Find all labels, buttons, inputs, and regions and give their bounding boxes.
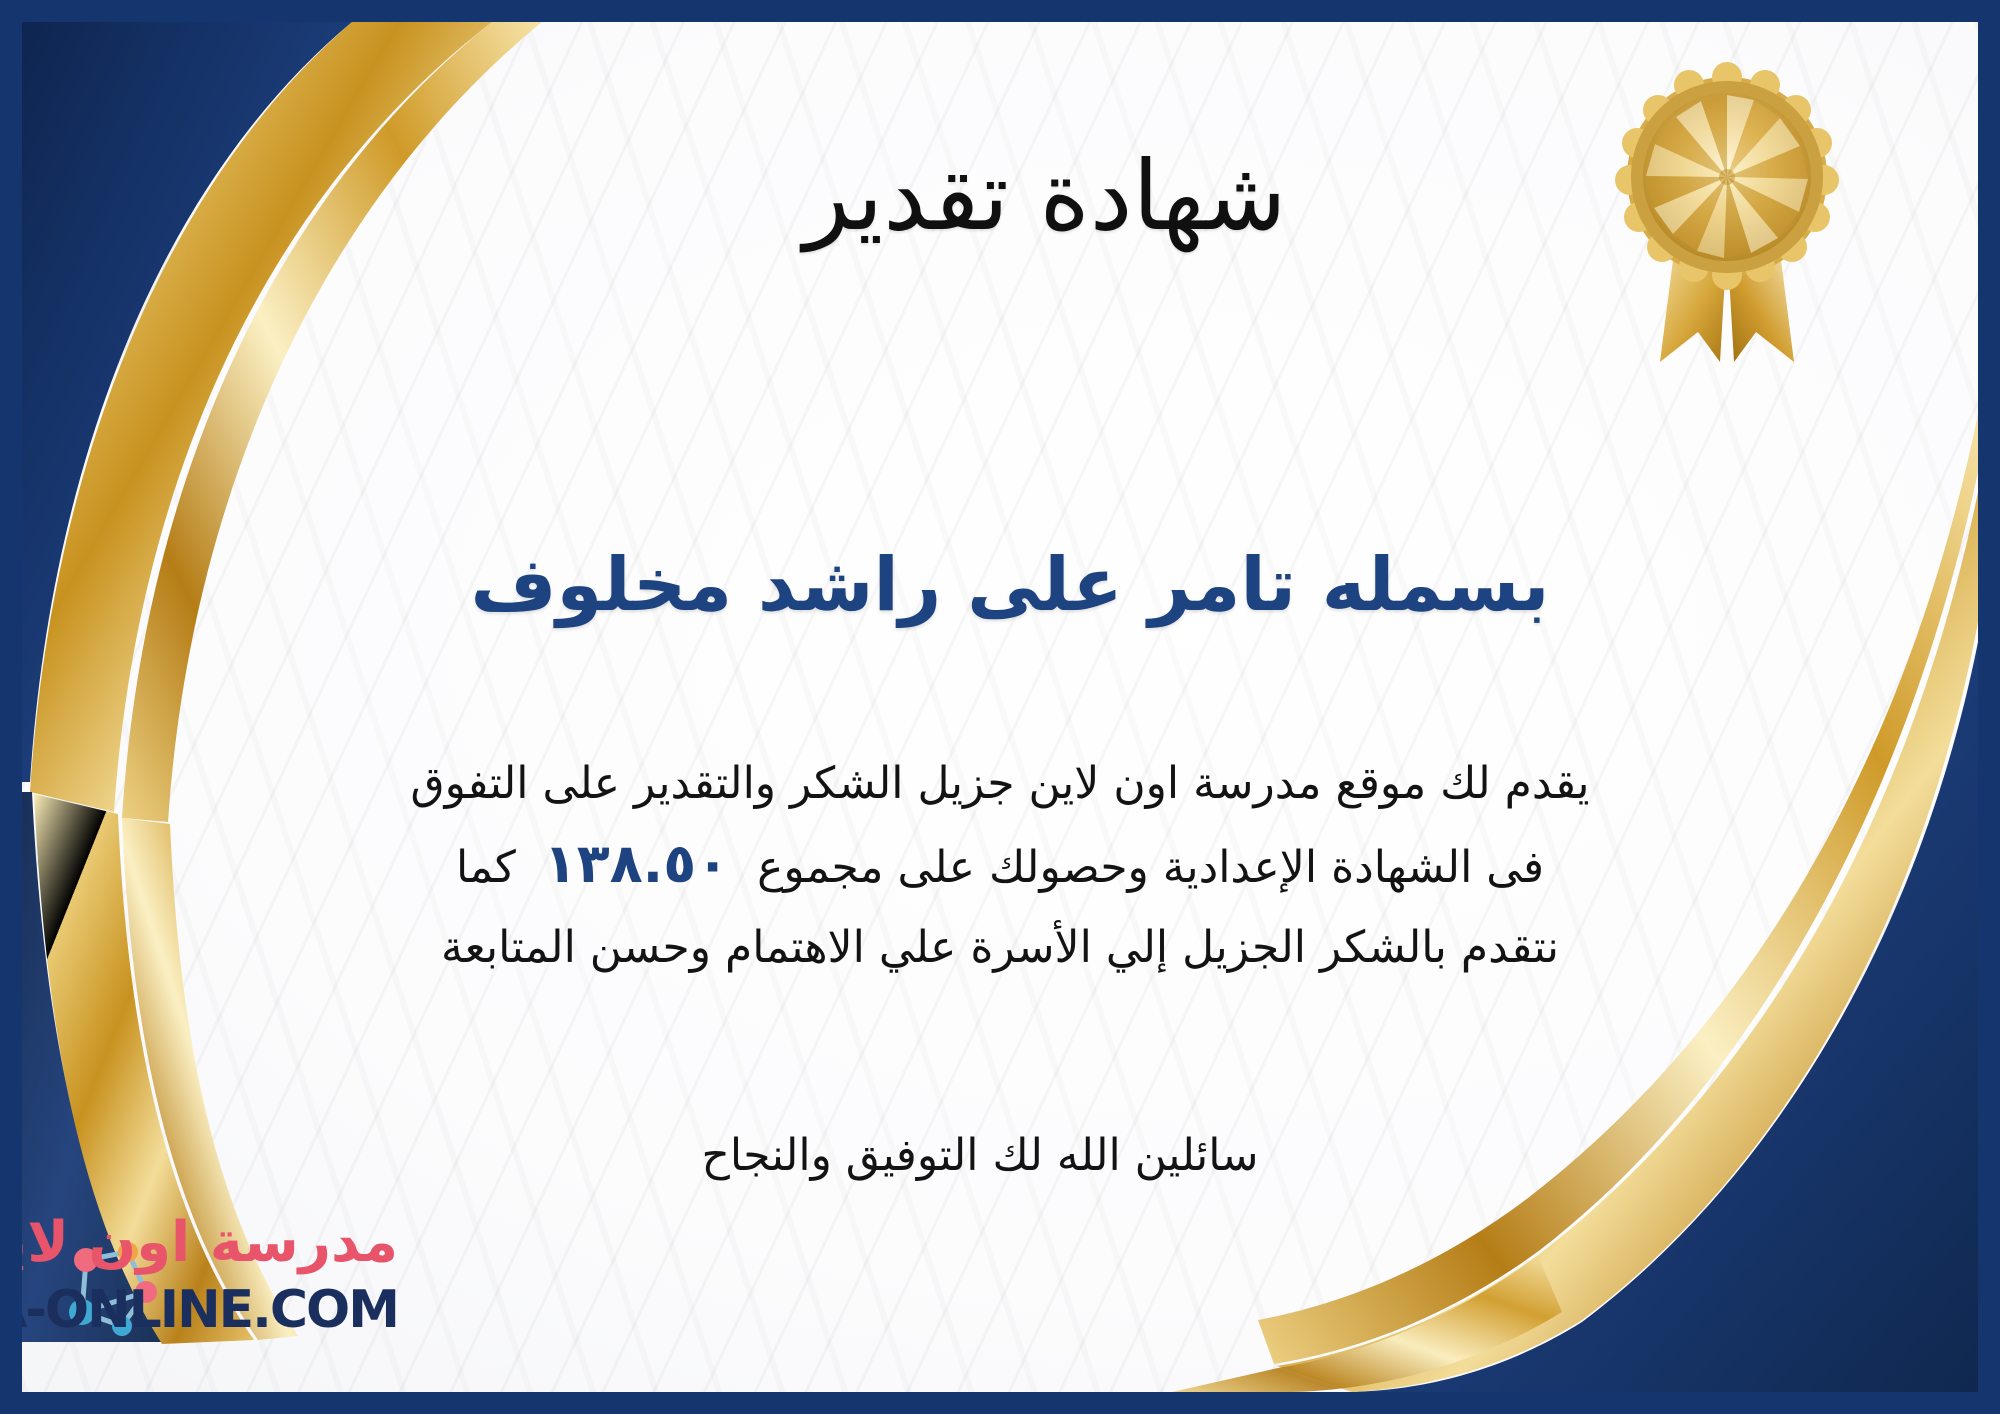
body-line-score: فى الشهادة الإعدادية وحصولك على مجموع ١٣… <box>82 824 1918 908</box>
score-line-after: كما <box>456 842 516 893</box>
certificate-page: مدرسة اون لاين MADRSA-ONLINE.COM شهادة ت… <box>22 22 1978 1392</box>
score-value: ١٣٨.٥٠ <box>530 824 743 904</box>
closing-line: سائلين الله لك التوفيق والنجاح <box>22 1130 1978 1181</box>
certificate-card: مدرسة اون لاين MADRSA-ONLINE.COM شهادة ت… <box>0 0 2000 1414</box>
body-line-2: نتقدم بالشكر الجزيل إلي الأسرة علي الاهت… <box>82 908 1918 988</box>
body-line-1: يقدم لك موقع مدرسة اون لاين جزيل الشكر و… <box>82 744 1918 824</box>
recipient-name: بسمله تامر على راشد مخلوف <box>22 542 1978 628</box>
certificate-content: شهادة تقدير بسمله تامر على راشد مخلوف يق… <box>22 22 1978 1392</box>
certificate-body: يقدم لك موقع مدرسة اون لاين جزيل الشكر و… <box>82 744 1918 988</box>
score-line-before: فى الشهادة الإعدادية وحصولك على مجموع <box>757 842 1544 893</box>
page-title: شهادة تقدير <box>22 140 1978 252</box>
